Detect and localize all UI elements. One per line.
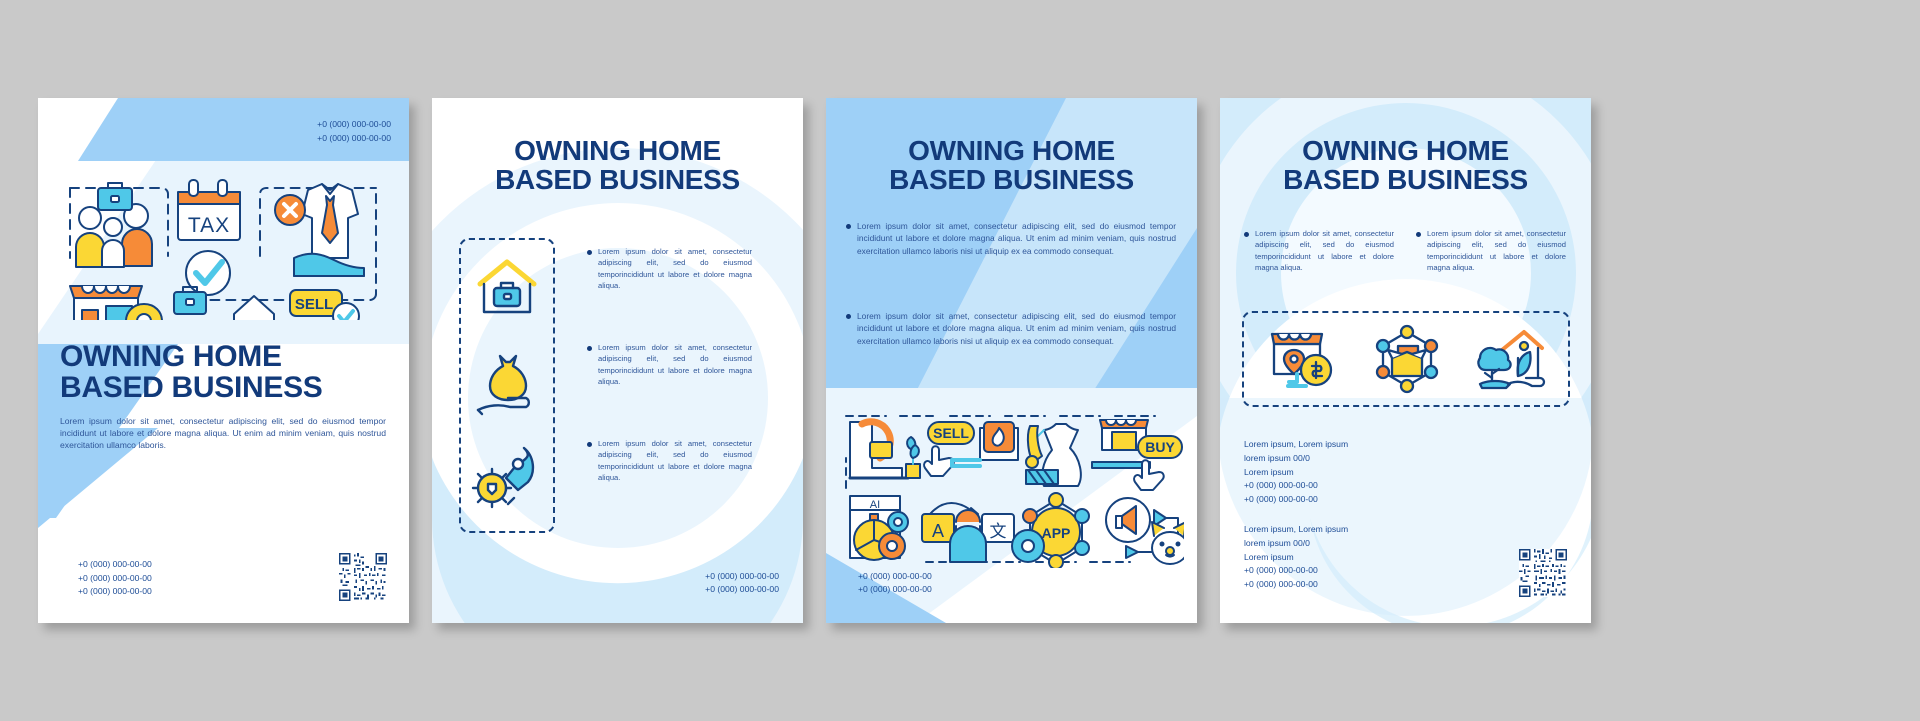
page-four-title-line1: OWNING HOME: [1240, 136, 1571, 165]
page-three-bullet-2: Lorem ipsum dolor sit amet, consectetur …: [846, 310, 1176, 347]
page-two-title: OWNING HOME BASED BUSINESS: [452, 136, 783, 194]
bullet-text: Lorem ipsum dolor sit amet, consectetur …: [857, 220, 1176, 257]
page-four: OWNING HOME BASED BUSINESS Lorem ipsum d…: [1220, 98, 1591, 623]
eco-home-plant-icon: [1474, 322, 1548, 396]
bullet-dot-icon: [587, 346, 592, 351]
cover-illustration-svg: TAX: [58, 170, 388, 320]
page-four-contact-2: Lorem ipsum, Lorem ipsum lorem ipsum 00/…: [1244, 523, 1348, 592]
page-three-phones: +0 (000) 000-00-00 +0 (000) 000-00-00: [858, 570, 932, 598]
page-two-title-line1: OWNING HOME: [452, 136, 783, 165]
page-four-contact-1: Lorem ipsum, Lorem ipsum lorem ipsum 00/…: [1244, 438, 1348, 507]
bullet-text: Lorem ipsum dolor sit amet, consectetur …: [598, 246, 752, 292]
bullet-text: Lorem ipsum dolor sit amet, consectetur …: [1255, 228, 1394, 274]
page-two-bullet-1: Lorem ipsum dolor sit amet, consectetur …: [587, 246, 752, 292]
page-two-title-line2: BASED BUSINESS: [452, 165, 783, 194]
bullet-text: Lorem ipsum dolor sit amet, consectetur …: [857, 310, 1176, 347]
cover-phone-top: +0 (000) 000-00-00 +0 (000) 000-00-00: [317, 118, 391, 146]
page-three: OWNING HOME BASED BUSINESS Lorem ipsum d…: [826, 98, 1197, 623]
page-two: OWNING HOME BASED BUSINESS: [432, 98, 803, 623]
brochure-spread: +0 (000) 000-00-00 +0 (000) 000-00-00: [0, 0, 1920, 721]
page-two-bullet-3: Lorem ipsum dolor sit amet, consectetur …: [587, 438, 752, 484]
cover-illustration: TAX: [58, 170, 388, 320]
svg-text:TAX: TAX: [188, 214, 230, 237]
page-two-bullet-2: Lorem ipsum dolor sit amet, consectetur …: [587, 342, 752, 388]
page-four-title-line2: BASED BUSINESS: [1240, 165, 1571, 194]
page-three-illustration-svg: SELL: [840, 410, 1184, 568]
bullet-dot-icon: [1244, 232, 1249, 237]
qr-code-icon: [1519, 549, 1567, 597]
page-four-bullet-2: Lorem ipsum dolor sit amet, consectetur …: [1416, 228, 1566, 274]
svg-text:AI: AI: [870, 499, 880, 511]
money-bag-hand-icon: [470, 346, 544, 420]
page-three-title: OWNING HOME BASED BUSINESS: [846, 136, 1177, 194]
page-cover: +0 (000) 000-00-00 +0 (000) 000-00-00: [38, 98, 409, 623]
cover-phone-list: +0 (000) 000-00-00 +0 (000) 000-00-00 +0…: [78, 558, 152, 599]
page-four-bullet-1: Lorem ipsum dolor sit amet, consectetur …: [1244, 228, 1394, 274]
svg-text:SELL: SELL: [933, 425, 969, 441]
page-two-phones: +0 (000) 000-00-00 +0 (000) 000-00-00: [705, 570, 779, 598]
bullet-dot-icon: [587, 442, 592, 447]
rocket-gear-idea-icon: [470, 440, 544, 514]
page-three-illustration: SELL: [840, 410, 1184, 568]
bullet-dot-icon: [1416, 232, 1421, 237]
cover-title-line2: BASED BUSINESS: [60, 372, 390, 403]
cover-title: OWNING HOME BASED BUSINESS: [60, 341, 390, 403]
bullet-text: Lorem ipsum dolor sit amet, consectetur …: [598, 438, 752, 484]
page-four-title: OWNING HOME BASED BUSINESS: [1240, 136, 1571, 194]
bullet-dot-icon: [587, 250, 592, 255]
svg-text:BUY: BUY: [1145, 439, 1175, 455]
page-three-bullet-1: Lorem ipsum dolor sit amet, consectetur …: [846, 220, 1176, 257]
bullet-text: Lorem ipsum dolor sit amet, consectetur …: [1427, 228, 1566, 274]
svg-text:A: A: [932, 521, 944, 541]
svg-text:SELL: SELL: [295, 296, 333, 313]
online-store-money-icon: [1264, 322, 1338, 396]
svg-text:文: 文: [990, 522, 1007, 541]
page-three-title-line2: BASED BUSINESS: [846, 165, 1177, 194]
home-office-icon: [470, 250, 544, 324]
qr-code-icon: [339, 553, 387, 601]
bullet-dot-icon: [846, 314, 851, 319]
package-network-icon: [1370, 322, 1444, 396]
cover-paragraph: Lorem ipsum dolor sit amet, consectetur …: [60, 415, 386, 452]
bullet-text: Lorem ipsum dolor sit amet, consectetur …: [598, 342, 752, 388]
page-three-title-line1: OWNING HOME: [846, 136, 1177, 165]
svg-text:APP: APP: [1042, 525, 1071, 541]
cover-title-line1: OWNING HOME: [60, 341, 390, 372]
bullet-dot-icon: [846, 224, 851, 229]
